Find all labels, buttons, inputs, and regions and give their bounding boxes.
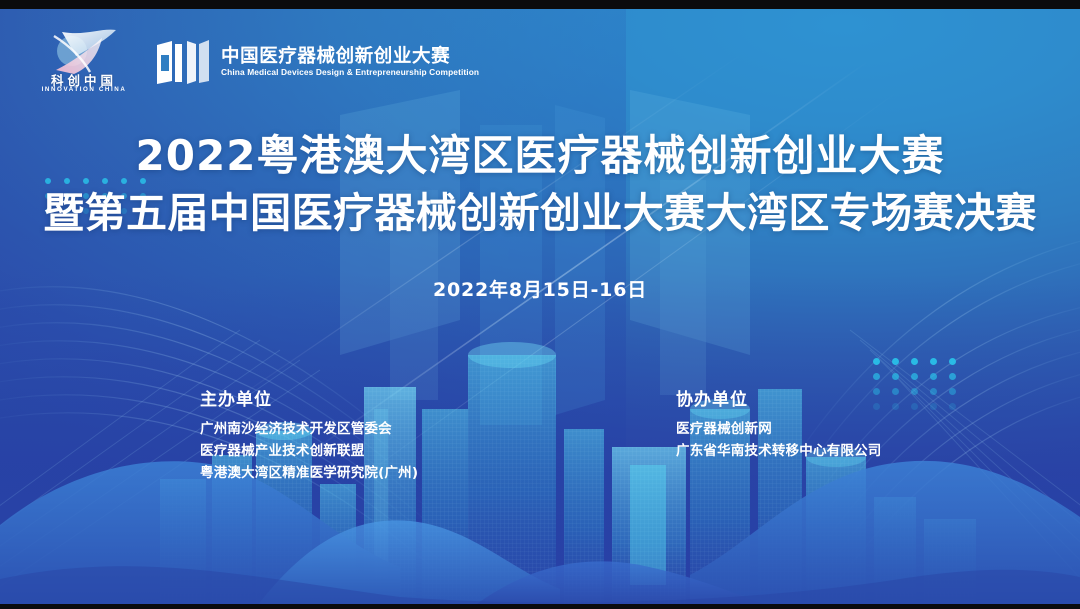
logo-competition[interactable]: 中国医疗器械创新创业大赛 China Medical Devices Desig…	[156, 37, 479, 87]
title-line-1: 2022粤港澳大湾区医疗器械创新创业大赛	[0, 132, 1080, 179]
cmd-open-door-mark-icon	[156, 37, 210, 87]
logo-competition-cn: 中国医疗器械创新创业大赛	[221, 47, 479, 67]
event-date: 2022年8月15日-16日	[0, 275, 1080, 302]
event-banner: 科创中国 INNOVATION CHINA 中国医疗器械创新创业大赛 China…	[0, 0, 1080, 609]
co-host-organizer-item: 医疗器械创新网	[676, 419, 882, 441]
innovation-china-mark-icon	[46, 26, 120, 74]
co-host-organizers-heading: 协办单位	[676, 385, 882, 410]
co-host-organizers: 协办单位 医疗器械创新网 广东省华南技术转移中心有限公司	[676, 385, 882, 463]
bottom-letterbox-bar	[0, 604, 1080, 609]
top-letterbox-bar	[0, 0, 1080, 9]
logo-innovation-china-en: INNOVATION CHINA	[38, 86, 130, 93]
title-block: 2022粤港澳大湾区医疗器械创新创业大赛 暨第五届中国医疗器械创新创业大赛大湾区…	[0, 132, 1080, 302]
dot-grid-right	[873, 358, 968, 418]
host-organizer-item: 广州南沙经济技术开发区管委会	[200, 419, 418, 441]
host-organizer-item: 粤港澳大湾区精准医学研究院(广州)	[200, 463, 418, 485]
host-organizers: 主办单位 广州南沙经济技术开发区管委会 医疗器械产业技术创新联盟 粤港澳大湾区精…	[200, 385, 418, 485]
bottom-wave-hills	[0, 429, 1080, 609]
host-organizer-item: 医疗器械产业技术创新联盟	[200, 441, 418, 463]
logo-innovation-china[interactable]: 科创中国 INNOVATION CHINA	[38, 26, 130, 98]
host-organizers-heading: 主办单位	[200, 385, 418, 410]
co-host-organizer-item: 广东省华南技术转移中心有限公司	[676, 441, 882, 463]
header-logos: 科创中国 INNOVATION CHINA 中国医疗器械创新创业大赛 China…	[38, 26, 479, 98]
title-line-2: 暨第五届中国医疗器械创新创业大赛大湾区专场赛决赛	[0, 191, 1080, 237]
logo-competition-en: China Medical Devices Design & Entrepren…	[221, 68, 479, 78]
